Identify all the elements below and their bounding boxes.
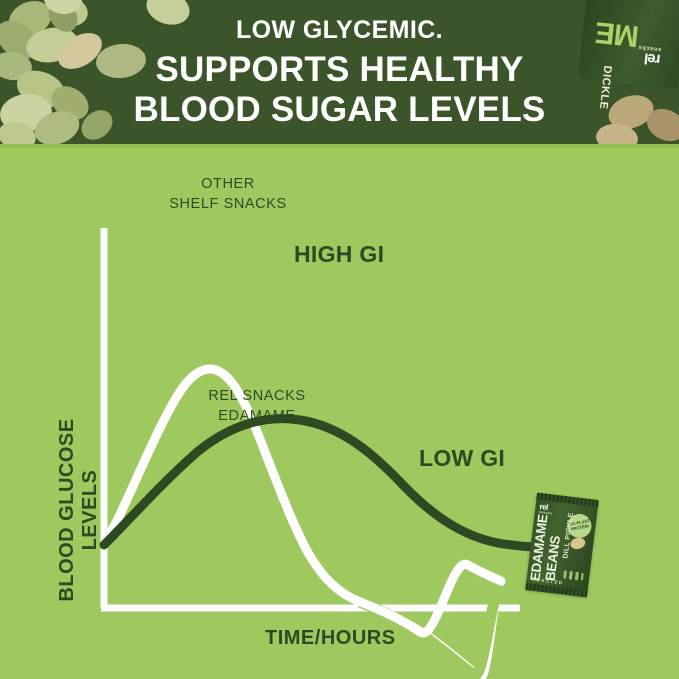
y-axis-title: BLOOD GLUCOSE LEVELS bbox=[56, 385, 102, 635]
product-package: rel snacks 13G PLANT PROTEIN EDAMAME BEA… bbox=[525, 493, 598, 598]
header-banner: rel snacks ME DICKLE LOW GLYCEMIC. SUPPO… bbox=[0, 0, 679, 147]
annotation-low-gi: LOW GI bbox=[419, 445, 505, 472]
corner-package-logo: rel snacks bbox=[636, 44, 661, 67]
corner-package-word: ME bbox=[594, 16, 640, 50]
high-gi-curve-tail bbox=[358, 564, 501, 633]
package-product-name-line2: BEANS bbox=[544, 535, 563, 582]
package-pattern bbox=[563, 570, 584, 580]
bean-icon bbox=[142, 0, 194, 30]
bean-icon bbox=[94, 41, 147, 80]
corner-package-body: rel snacks ME DICKLE bbox=[578, 0, 679, 89]
header-divider bbox=[0, 144, 679, 148]
series-label-rel-snacks-edamame: REL SNACKS EDAMAME bbox=[192, 387, 322, 426]
package-body: rel snacks 13G PLANT PROTEIN EDAMAME BEA… bbox=[525, 493, 598, 598]
corner-product-package: rel snacks ME DICKLE bbox=[561, 0, 679, 98]
corner-logo-text: rel bbox=[644, 50, 661, 69]
glycemic-chart: OTHER SHELF SNACKS REL SNACKS EDAMAME HI… bbox=[0, 147, 679, 679]
infographic-poster: rel snacks ME DICKLE LOW GLYCEMIC. SUPPO… bbox=[0, 0, 679, 679]
series-label-other-shelf-snacks: OTHER SHELF SNACKS bbox=[168, 175, 288, 214]
corner-logo-subtext: snacks bbox=[638, 44, 662, 52]
x-axis-title: TIME/HOURS bbox=[265, 627, 396, 650]
annotation-high-gi: HIGH GI bbox=[294, 241, 384, 268]
